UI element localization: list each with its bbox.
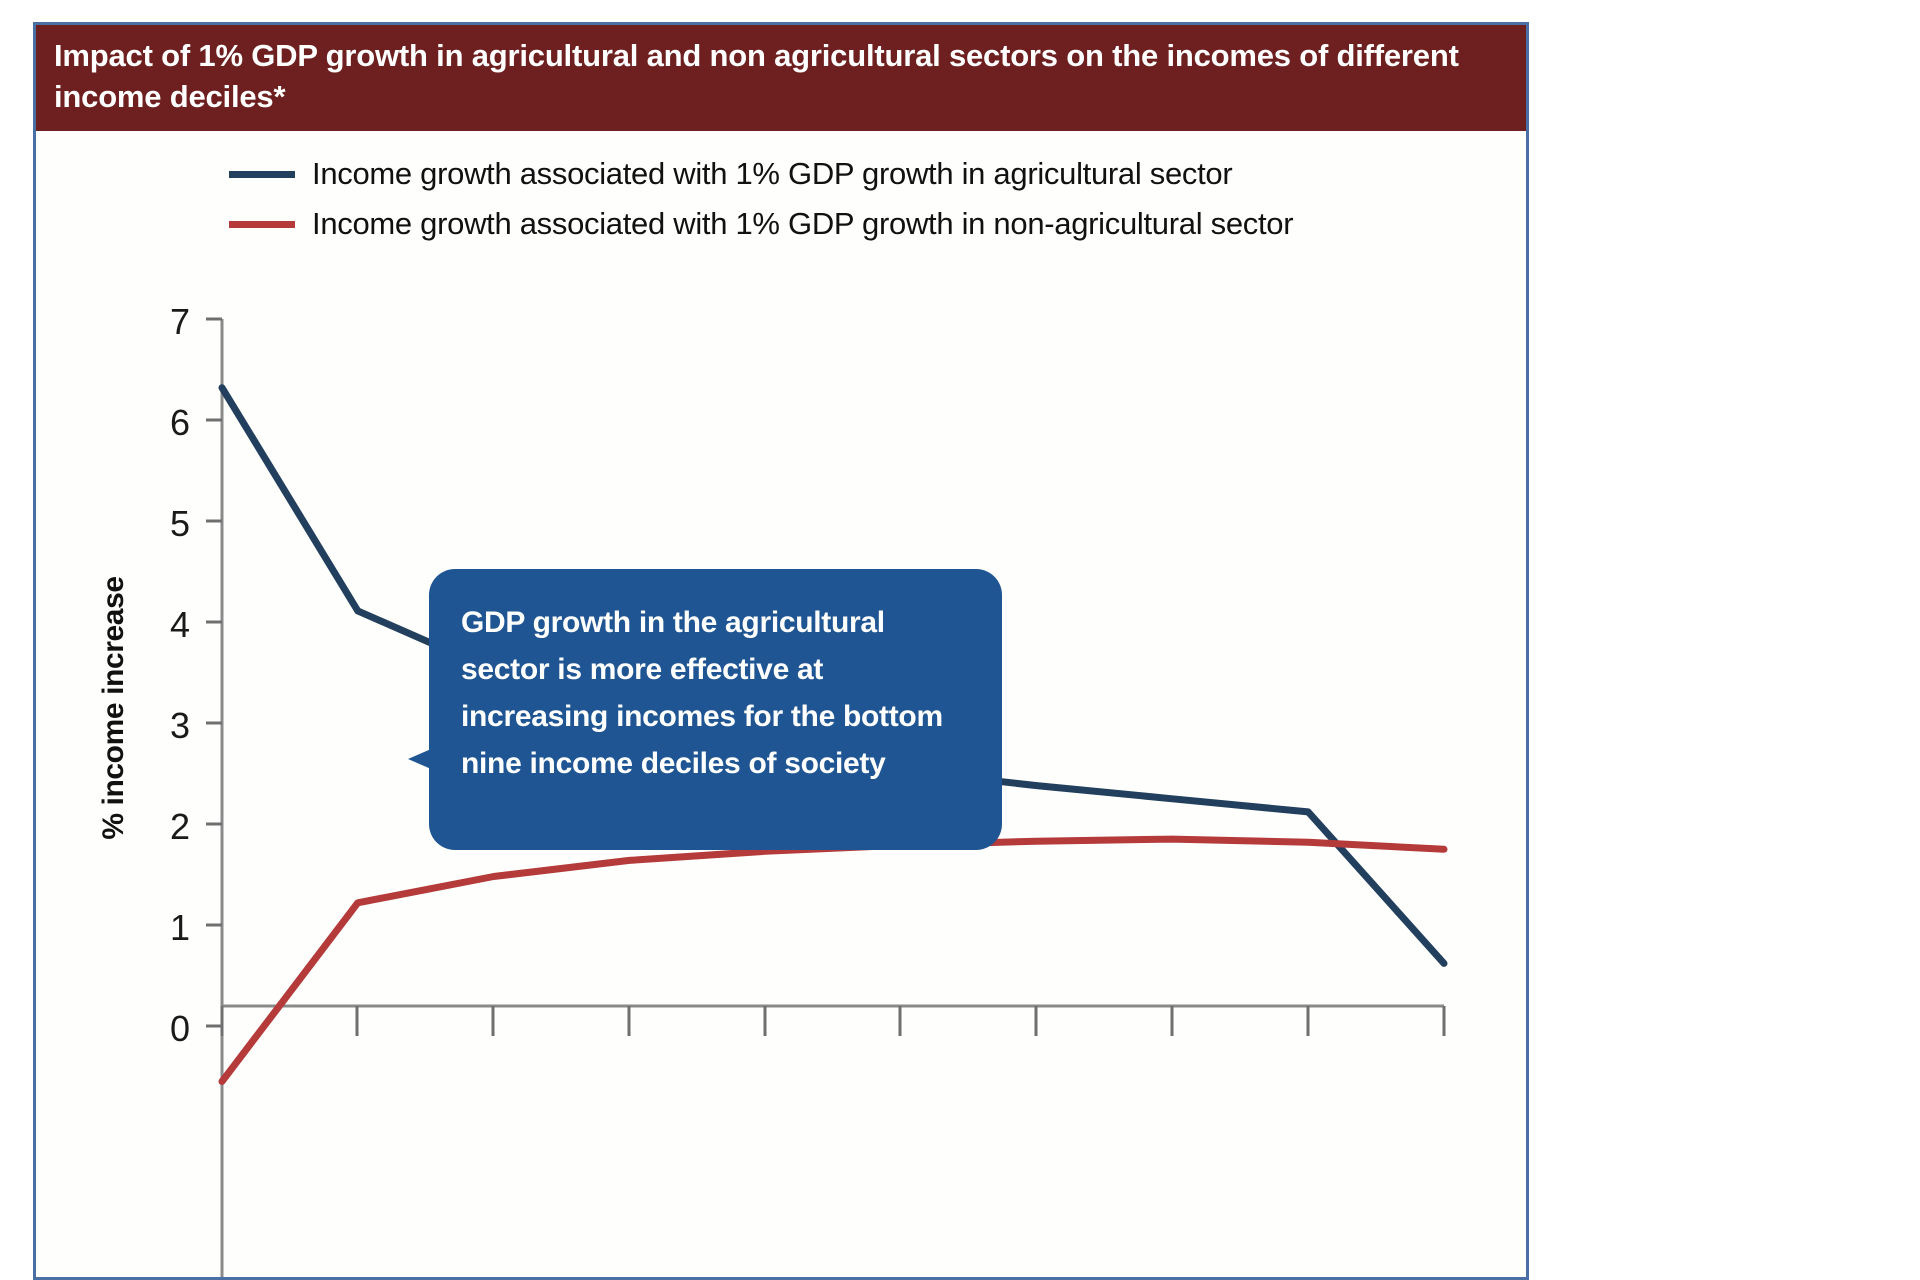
slide-frame: Impact of 1% GDP growth in agricultural … [33,22,1529,1280]
line-swatch-non-agricultural [229,221,295,228]
chart-legend: Income growth associated with 1% GDP gro… [229,149,1519,249]
x-axis-ticks [222,1006,1444,1036]
legend-label-agricultural: Income growth associated with 1% GDP gro… [312,156,1232,192]
callout-bubble: GDP growth in the agricultural sector is… [429,569,1002,850]
slide-title-bar: Impact of 1% GDP growth in agricultural … [36,25,1526,131]
legend-label-non-agricultural: Income growth associated with 1% GDP gro… [312,206,1293,242]
legend-item-non-agricultural: Income growth associated with 1% GDP gro… [229,199,1519,249]
callout-annotation: GDP growth in the agricultural sector is… [408,569,1002,850]
chart-plot-area: % income increase 7 6 5 4 3 2 1 0 [36,261,1526,1280]
legend-item-agricultural: Income growth associated with 1% GDP gro… [229,149,1519,199]
page-title: Impact of 1% GDP growth in agricultural … [54,35,1508,117]
line-swatch-agricultural [229,171,295,178]
series-line-non-agricultural [222,839,1444,1081]
callout-text: GDP growth in the agricultural sector is… [461,599,974,787]
